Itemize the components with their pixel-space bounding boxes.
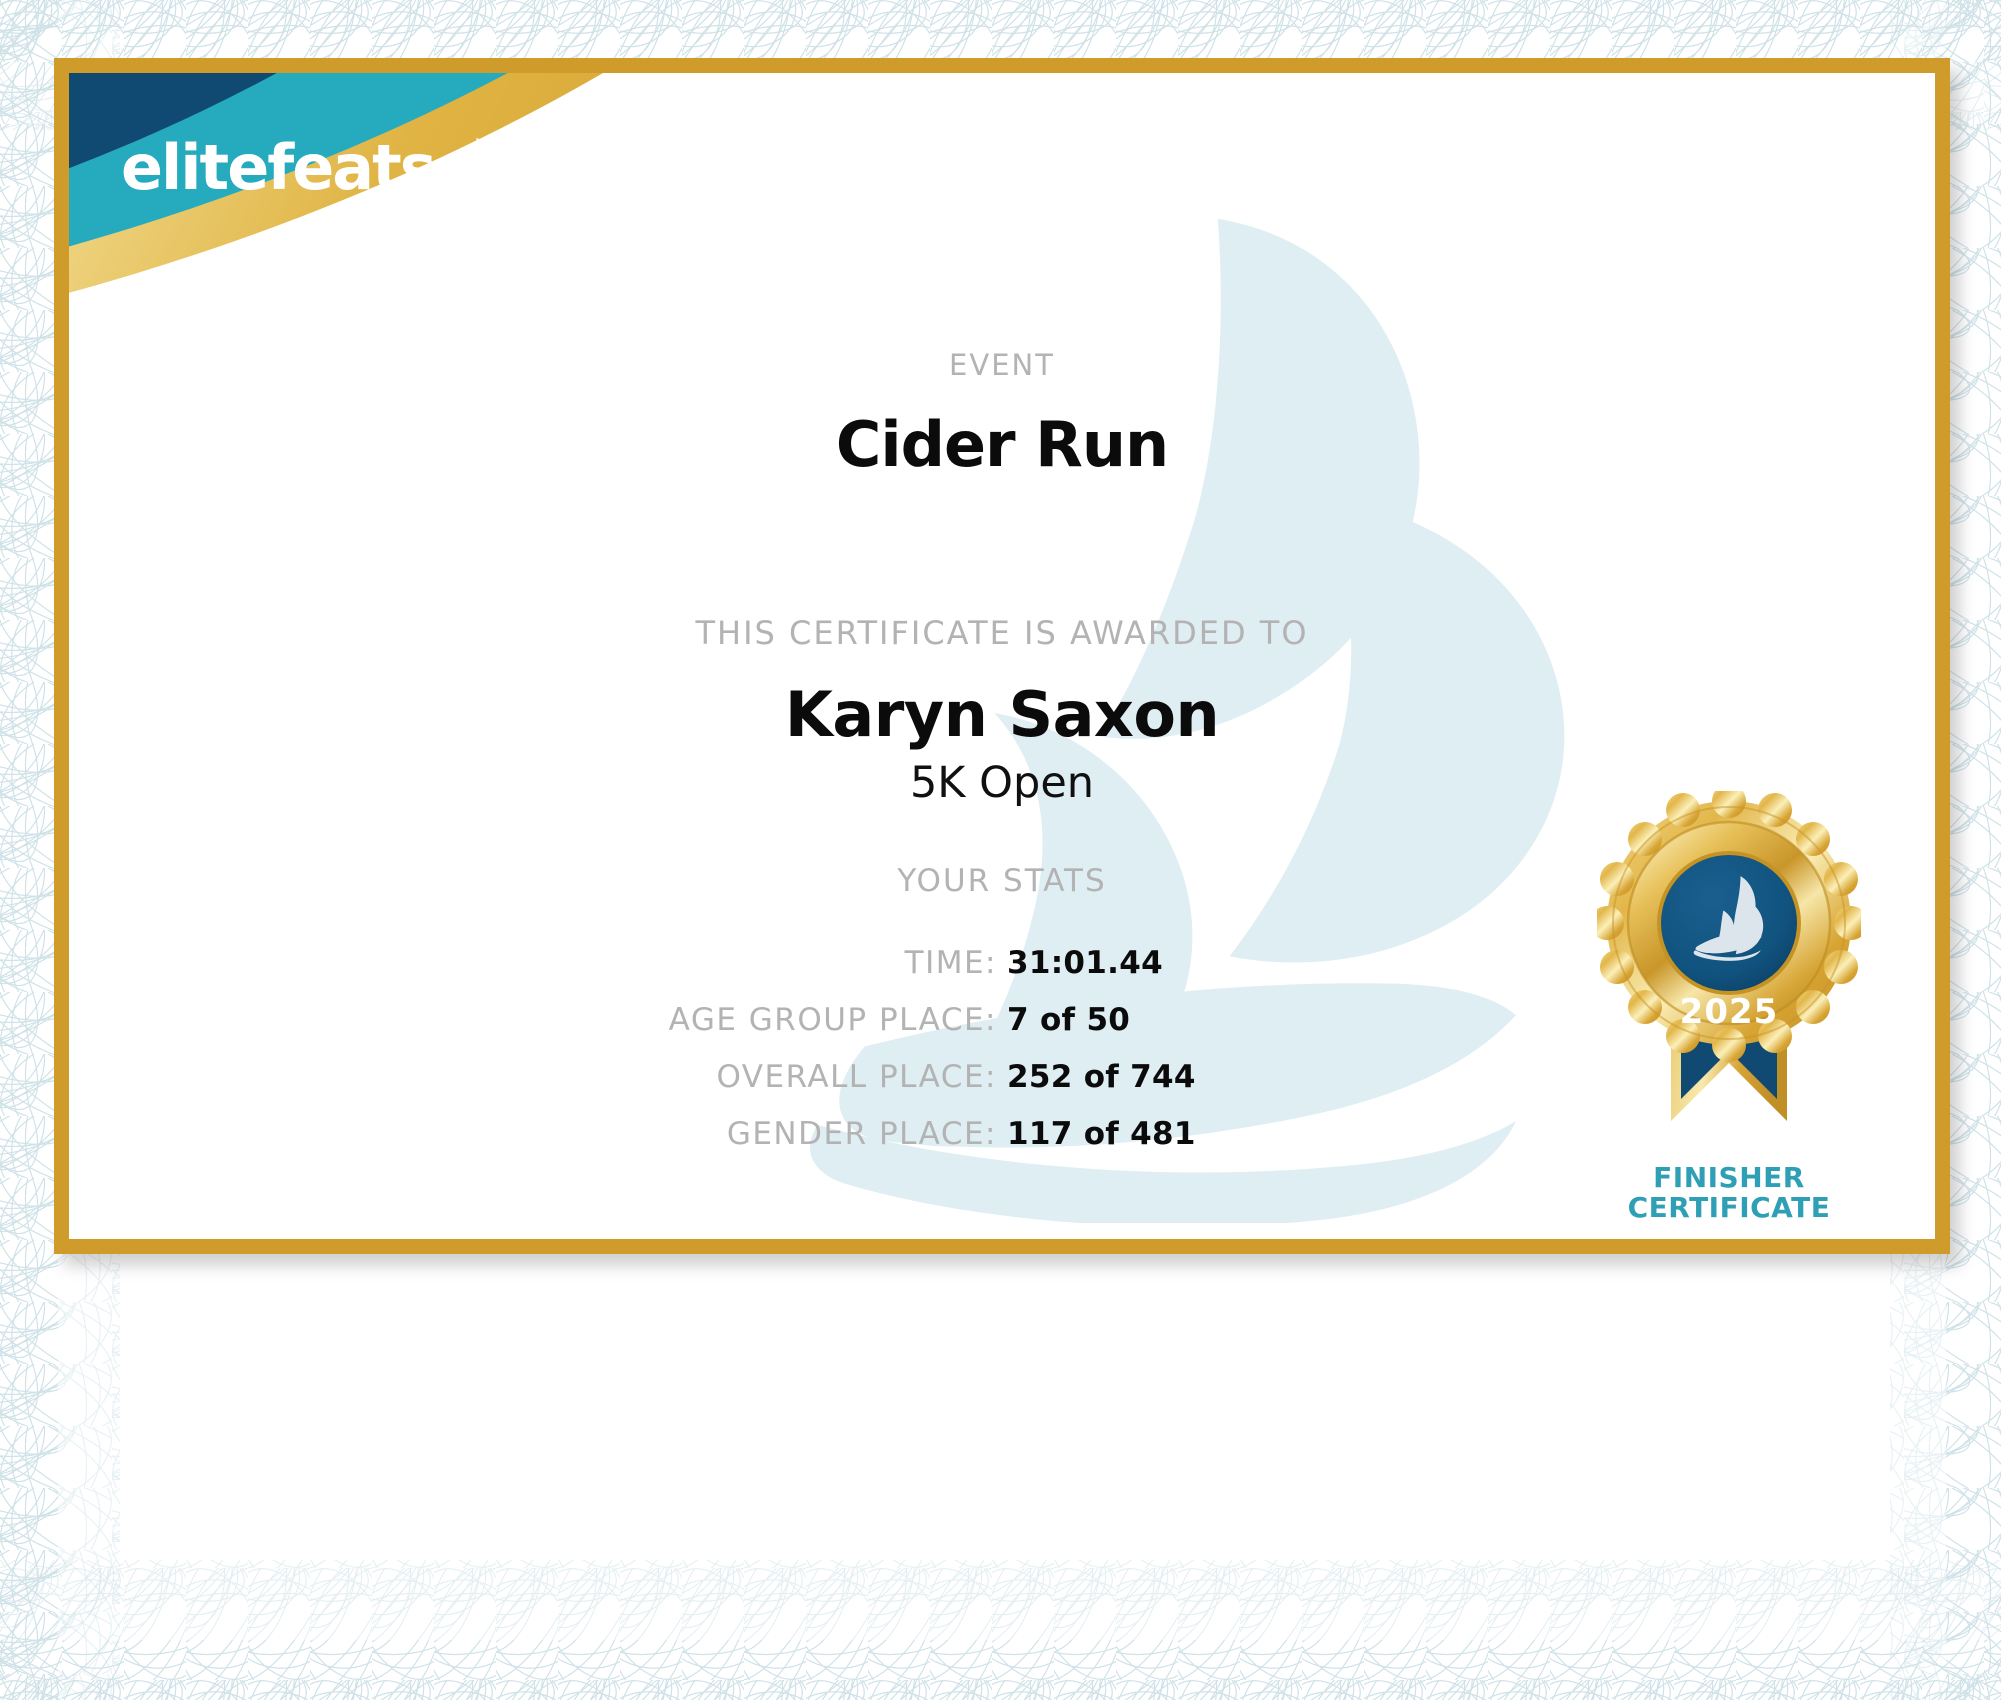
- winged-foot-icon: [433, 135, 499, 209]
- stat-label: AGE GROUP PLACE:: [517, 1002, 997, 1038]
- stat-label: OVERALL PLACE:: [517, 1059, 997, 1095]
- awarded-to-label: THIS CERTIFICATE IS AWARDED TO: [69, 614, 1935, 652]
- certificate-page: elitefeats EVENT Cider Run THIS CERTIFIC…: [0, 0, 2001, 1700]
- stat-label: TIME:: [517, 945, 997, 981]
- stat-value: 252 of 744: [997, 1059, 1487, 1095]
- seal-caption-line-1: FINISHER: [1597, 1163, 1861, 1193]
- event-label: EVENT: [69, 348, 1935, 382]
- stat-label: GENDER PLACE:: [517, 1116, 997, 1152]
- elitefeats-logo: elitefeats: [121, 135, 499, 199]
- stat-value: 117 of 481: [997, 1116, 1487, 1152]
- event-name: Cider Run: [69, 408, 1935, 481]
- seal-caption: FINISHER CERTIFICATE: [1597, 1163, 1861, 1223]
- stat-value: 31:01.44: [997, 945, 1487, 981]
- certificate-inner: elitefeats EVENT Cider Run THIS CERTIFIC…: [69, 73, 1935, 1239]
- recipient-name: Karyn Saxon: [69, 678, 1935, 751]
- certificate-card: elitefeats EVENT Cider Run THIS CERTIFIC…: [54, 58, 1950, 1254]
- finisher-seal: 2025 FINISHER CERTIFICATE: [1597, 791, 1861, 1231]
- logo-wordmark: elitefeats: [121, 137, 435, 199]
- seal-medal-icon: 2025: [1597, 791, 1861, 1161]
- stat-value: 7 of 50: [997, 1002, 1487, 1038]
- seal-caption-line-2: CERTIFICATE: [1597, 1193, 1861, 1223]
- seal-year: 2025: [1680, 992, 1779, 1032]
